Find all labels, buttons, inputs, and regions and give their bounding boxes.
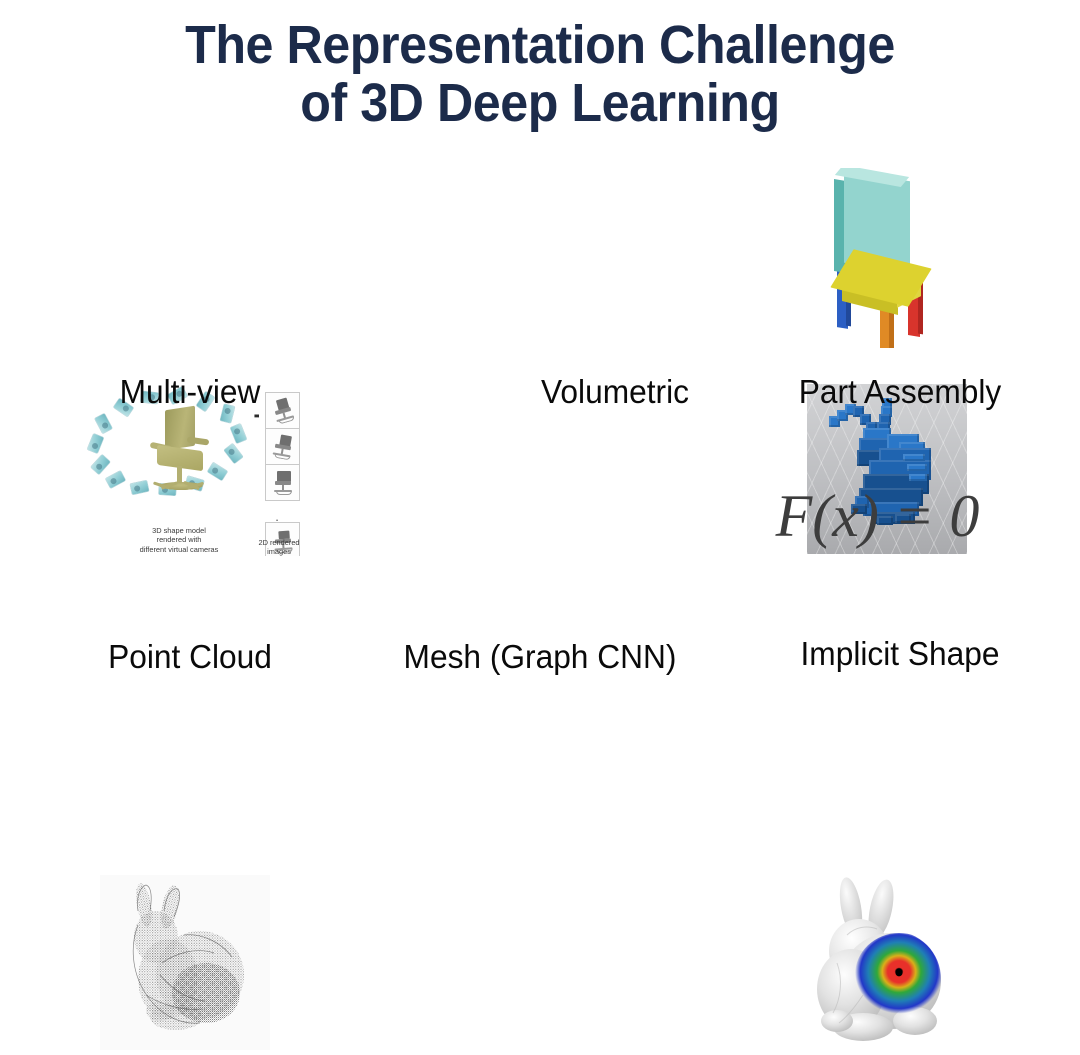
label-volumetric: Volumetric: [519, 375, 711, 409]
representation-cell-mesh: Mesh (Graph CNN): [370, 435, 720, 685]
seed-point: [896, 970, 903, 977]
point-cloud-bunny: [100, 875, 270, 1050]
title-line-2: of 3D Deep Learning: [38, 74, 1042, 132]
title-line-1: The Representation Challenge: [38, 16, 1042, 74]
mesh-illustration: [785, 875, 970, 1055]
representation-cell-part-assembly: Part Assembly: [720, 160, 1080, 410]
point-cloud-illustration: [100, 875, 270, 1050]
part-assembly-illustration: [790, 168, 960, 348]
camera-icon: [95, 413, 113, 433]
representation-cell-multi-view: } ...: [0, 190, 380, 410]
implicit-shape-illustration: F(x) = 0: [745, 480, 1010, 560]
label-part-assembly: Part Assembly: [727, 375, 1073, 409]
label-mesh: Mesh (Graph CNN): [372, 640, 708, 674]
mesh-bunny: [785, 875, 970, 1055]
representation-cell-point-cloud: Point Cloud: [0, 435, 380, 685]
label-point-cloud: Point Cloud: [8, 640, 373, 674]
label-implicit-shape: Implicit Shape: [727, 637, 1073, 671]
page-title: The Representation Challenge of 3D Deep …: [38, 16, 1042, 133]
representation-cell-implicit-shape: F(x) = 0 Implicit Shape: [720, 435, 1080, 685]
implicit-function-formula: F(x) = 0: [745, 480, 1010, 552]
representation-cell-volumetric: Volumetric: [370, 190, 720, 410]
label-multi-view: Multi-view: [8, 375, 373, 409]
